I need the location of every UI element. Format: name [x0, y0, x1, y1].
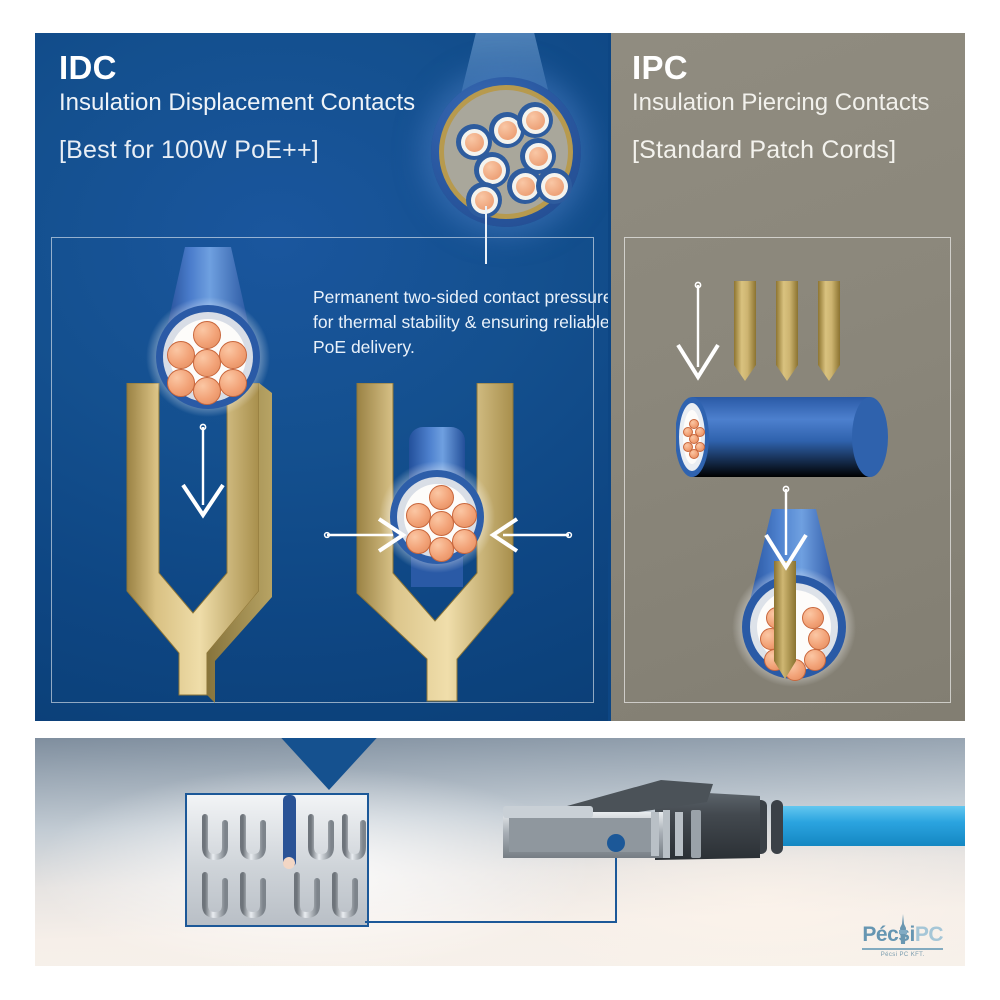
callout-line-horizontal	[365, 921, 617, 923]
twisted-pair	[536, 168, 572, 204]
ipc-tagline: [Standard Patch Cords]	[632, 136, 930, 165]
arrow-down-icon	[175, 423, 231, 533]
ipc-full-name: Insulation Piercing Contacts	[632, 89, 930, 117]
leader-line	[485, 206, 487, 264]
copper-bundle-left	[163, 319, 253, 409]
brand-logo: PécsiPC Pécsi PC KFT.	[862, 924, 943, 958]
arrow-down-icon	[670, 281, 726, 393]
ipc-abbreviation: IPC	[632, 51, 930, 86]
arrow-down-icon	[758, 485, 814, 595]
cable-core-filler	[444, 90, 568, 214]
ipc-header: IPC Insulation Piercing Contacts [Standa…	[608, 33, 954, 165]
cable-shield	[439, 85, 573, 219]
idc-full-name: Insulation Displacement Contacts	[59, 89, 415, 117]
copper-bundle-engaged	[403, 485, 483, 565]
contact-array-illustration	[187, 795, 367, 925]
product-photo-panel: PécsiPC Pécsi PC KFT.	[35, 738, 965, 966]
infographic-canvas: IDC Insulation Displacement Contacts [Be…	[0, 0, 1000, 1000]
panel-ipc: IPC Insulation Piercing Contacts [Standa…	[608, 33, 965, 721]
twisted-pair	[466, 182, 502, 218]
panel-idc: IDC Insulation Displacement Contacts [Be…	[35, 33, 608, 721]
callout-dot	[607, 834, 625, 852]
arrow-left-icon	[487, 513, 573, 557]
cable-jacket	[431, 77, 581, 227]
arrow-right-icon	[323, 513, 409, 557]
idc-contact-closeup-inset	[185, 793, 369, 927]
rj45-connector-photo	[475, 776, 965, 886]
comparison-board: IDC Insulation Displacement Contacts [Be…	[35, 33, 965, 721]
cable-cylinder	[676, 393, 888, 481]
tv-tower-icon	[896, 914, 910, 954]
twisted-pair	[517, 102, 553, 138]
idc-description: Permanent two-sided contact pressure for…	[313, 285, 608, 360]
idc-header: IDC Insulation Displacement Contacts [Be…	[35, 33, 439, 165]
idc-abbreviation: IDC	[59, 51, 415, 86]
logo-word-secondary: PC	[915, 923, 943, 946]
copper-bundle-cylinder	[682, 419, 706, 459]
idc-tagline: [Best for 100W PoE++]	[59, 136, 415, 165]
ipc-piercing-blades	[732, 281, 862, 391]
